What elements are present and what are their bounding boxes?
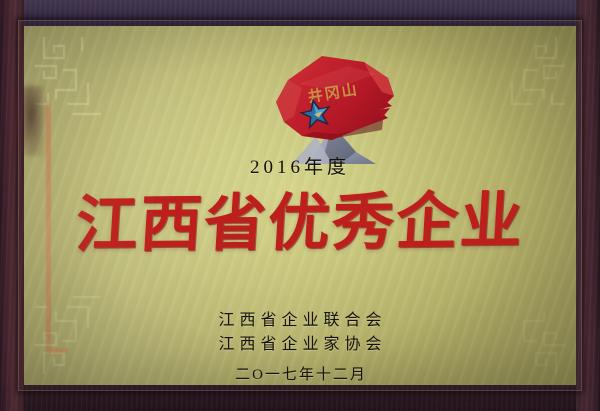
issuer-block: 江西省企业联合会 江西省企业家协会 [24, 309, 576, 356]
meander-ornament-icon [30, 32, 122, 124]
year-label: 2016年度 [24, 152, 576, 179]
jinggangshan-emblem-icon: 井冈山 [236, 40, 408, 164]
brass-plate: 井冈山 2016年度 江西省优秀企业 江西省企业联合会 江西省企业家协会 二O一… [24, 26, 576, 385]
glass-blob-reflection [24, 86, 44, 156]
issue-date: 二O一七年十二月 [24, 363, 576, 384]
issuer-line: 江西省企业家协会 [24, 333, 576, 357]
award-plaque: 井冈山 2016年度 江西省优秀企业 江西省企业联合会 江西省企业家协会 二O一… [0, 0, 600, 411]
page-title: 江西省优秀企业 [24, 190, 576, 257]
issuer-line: 江西省企业联合会 [24, 309, 576, 333]
meander-ornament-icon [478, 32, 570, 124]
